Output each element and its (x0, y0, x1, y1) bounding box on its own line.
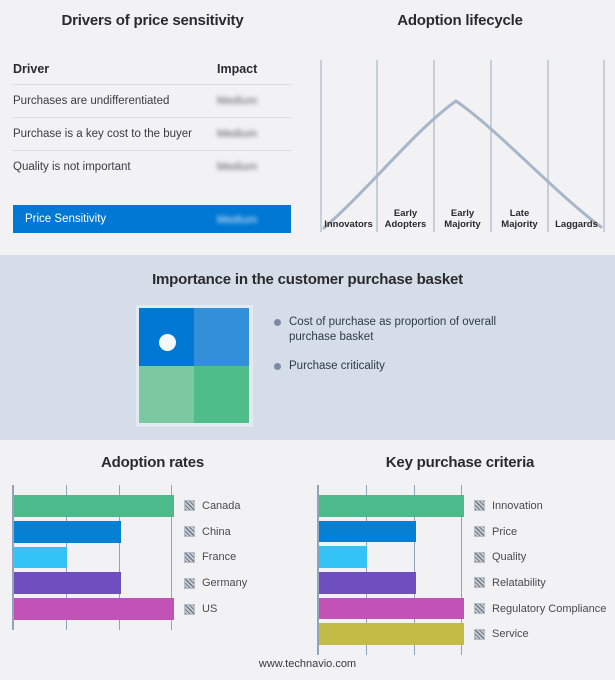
legend-item: Innovation (474, 493, 606, 519)
criteria-bars-container (319, 493, 464, 647)
adoption-plot-area (12, 485, 174, 630)
column-header-driver: Driver (13, 60, 213, 85)
legend-item: Price (474, 519, 606, 545)
legend-label: Service (492, 628, 529, 640)
matrix-quadrant-top-right (194, 308, 249, 366)
drivers-table: Driver Impact Purchases are undifferenti… (13, 60, 291, 183)
matrix-quadrant-bottom-right (194, 366, 249, 424)
impact-value-blurred: Medium (217, 214, 257, 226)
lifecycle-label-line1: Early (434, 208, 491, 219)
importance-matrix-grid (139, 308, 249, 423)
criteria-plot-area (317, 485, 464, 655)
bar-slot (14, 493, 174, 519)
importance-panel: Importance in the customer purchase bask… (0, 255, 615, 440)
key-purchase-criteria-chart: InnovationPriceQualityRelatabilityRegula… (317, 485, 607, 655)
lifecycle-label-line2: Majority (491, 219, 548, 230)
drivers-panel: Drivers of price sensitivity Driver Impa… (0, 0, 305, 255)
bar-slot (319, 519, 464, 545)
impact-cell: Medium (213, 151, 291, 184)
legend-label: Regulatory Compliance (492, 603, 606, 615)
hatched-square-icon (474, 629, 485, 640)
bar-germany (14, 572, 121, 594)
lifecycle-segment-late-majority: Late Majority (491, 195, 548, 233)
bar-quality (319, 546, 367, 568)
bar-slot (14, 596, 174, 622)
lifecycle-segment-early-majority: Early Majority (434, 195, 491, 233)
legend-label: Germany (202, 577, 247, 589)
lifecycle-label-line1: Innovators (320, 219, 377, 230)
legend-item: Canada (184, 493, 247, 519)
legend-item: Service (474, 621, 606, 647)
bar-slot (319, 544, 464, 570)
hatched-square-icon (184, 552, 195, 563)
legend-item: Regulatory Compliance (474, 596, 606, 622)
bullet-icon (274, 319, 281, 326)
legend-item: Relatability (474, 570, 606, 596)
list-item: Purchase criticality (274, 359, 594, 374)
importance-matrix-container (136, 305, 253, 427)
key-purchase-criteria-panel: Key purchase criteria InnovationPriceQua… (305, 440, 615, 680)
adoption-rates-title: Adoption rates (0, 454, 305, 471)
footer-url: www.technavio.com (0, 658, 615, 670)
lifecycle-segment-laggards: Laggards (548, 195, 605, 233)
key-purchase-criteria-title: Key purchase criteria (305, 454, 615, 471)
hatched-square-icon (184, 578, 195, 589)
bar-canada (14, 495, 174, 517)
hatched-square-icon (184, 500, 195, 511)
table-row: Purchase is a key cost to the buyer Medi… (13, 118, 291, 151)
impact-value-blurred: Medium (217, 128, 257, 140)
importance-legend-label: Purchase criticality (289, 359, 385, 374)
legend-label: US (202, 603, 217, 615)
adoption-chart-legend: CanadaChinaFranceGermanyUS (184, 485, 247, 630)
highlighted-row-price-sensitivity: Price Sensitivity Medium (13, 205, 291, 233)
bar-relatability (319, 572, 416, 594)
legend-label: Relatability (492, 577, 546, 589)
driver-cell: Purchase is a key cost to the buyer (13, 118, 213, 151)
column-header-impact: Impact (213, 60, 291, 85)
importance-legend-label: Cost of purchase as proportion of overal… (289, 315, 539, 345)
legend-item: Quality (474, 544, 606, 570)
matrix-position-marker-dot (159, 334, 176, 351)
drivers-table-head: Driver Impact (13, 60, 291, 85)
legend-label: France (202, 551, 236, 563)
impact-value-blurred: Medium (217, 161, 257, 173)
table-row: Purchases are undifferentiated Medium (13, 85, 291, 118)
lifecycle-axis-labels: Innovators Early Adopters Early Majority… (320, 195, 605, 233)
infographic-root: Drivers of price sensitivity Driver Impa… (0, 0, 615, 680)
lifecycle-segment-innovators: Innovators (320, 195, 377, 233)
lifecycle-label-line2: Majority (434, 219, 491, 230)
bar-slot (14, 570, 174, 596)
list-item: Cost of purchase as proportion of overal… (274, 315, 594, 345)
hatched-square-icon (474, 552, 485, 563)
bar-china (14, 521, 121, 543)
driver-cell: Purchases are undifferentiated (13, 85, 213, 118)
bar-france (14, 547, 67, 569)
importance-legend: Cost of purchase as proportion of overal… (274, 315, 594, 388)
lifecycle-segment-early-adopters: Early Adopters (377, 195, 434, 233)
bar-slot (319, 621, 464, 647)
bar-price (319, 521, 416, 543)
adoption-bars-container (14, 493, 174, 622)
legend-label: China (202, 526, 231, 538)
bar-regulatory-compliance (319, 598, 464, 620)
lifecycle-label-line1: Early (377, 208, 434, 219)
hatched-square-icon (184, 604, 195, 615)
table-row: Quality is not important Medium (13, 151, 291, 184)
bar-slot (14, 519, 174, 545)
impact-cell: Medium (213, 118, 291, 151)
impact-cell: Medium (213, 85, 291, 118)
bullet-icon (274, 363, 281, 370)
highlight-impact-cell: Medium (213, 210, 291, 228)
legend-label: Quality (492, 551, 526, 563)
adoption-rates-chart: CanadaChinaFranceGermanyUS (12, 485, 297, 630)
hatched-square-icon (474, 526, 485, 537)
bar-slot (319, 493, 464, 519)
legend-item: France (184, 545, 247, 571)
legend-item: US (184, 596, 247, 622)
bar-slot (14, 545, 174, 571)
highlight-driver-label: Price Sensitivity (13, 213, 213, 225)
bar-slot (319, 596, 464, 622)
bar-innovation (319, 495, 464, 517)
drivers-table-body: Purchases are undifferentiated Medium Pu… (13, 85, 291, 184)
lifecycle-label-line1: Late (491, 208, 548, 219)
lifecycle-title: Adoption lifecycle (305, 12, 615, 29)
hatched-square-icon (474, 500, 485, 511)
bar-slot (319, 570, 464, 596)
drivers-title: Drivers of price sensitivity (0, 12, 305, 29)
driver-cell: Quality is not important (13, 151, 213, 184)
drivers-header-row: Driver Impact (13, 60, 291, 85)
hatched-square-icon (184, 526, 195, 537)
hatched-square-icon (474, 603, 485, 614)
adoption-rates-panel: Adoption rates CanadaChinaFranceGermanyU… (0, 440, 305, 680)
legend-label: Canada (202, 500, 241, 512)
legend-label: Price (492, 526, 517, 538)
criteria-chart-legend: InnovationPriceQualityRelatabilityRegula… (474, 485, 606, 655)
lifecycle-label-line1: Laggards (548, 219, 605, 230)
hatched-square-icon (474, 577, 485, 588)
matrix-quadrant-bottom-left (139, 366, 194, 424)
lifecycle-label-line2: Adopters (377, 219, 434, 230)
legend-item: Germany (184, 570, 247, 596)
legend-label: Innovation (492, 500, 543, 512)
legend-item: China (184, 519, 247, 545)
lifecycle-panel: Adoption lifecycle Innovators Early (305, 0, 615, 255)
impact-value-blurred: Medium (217, 95, 257, 107)
bar-us (14, 598, 174, 620)
bar-service (319, 623, 464, 645)
importance-title: Importance in the customer purchase bask… (0, 271, 615, 288)
